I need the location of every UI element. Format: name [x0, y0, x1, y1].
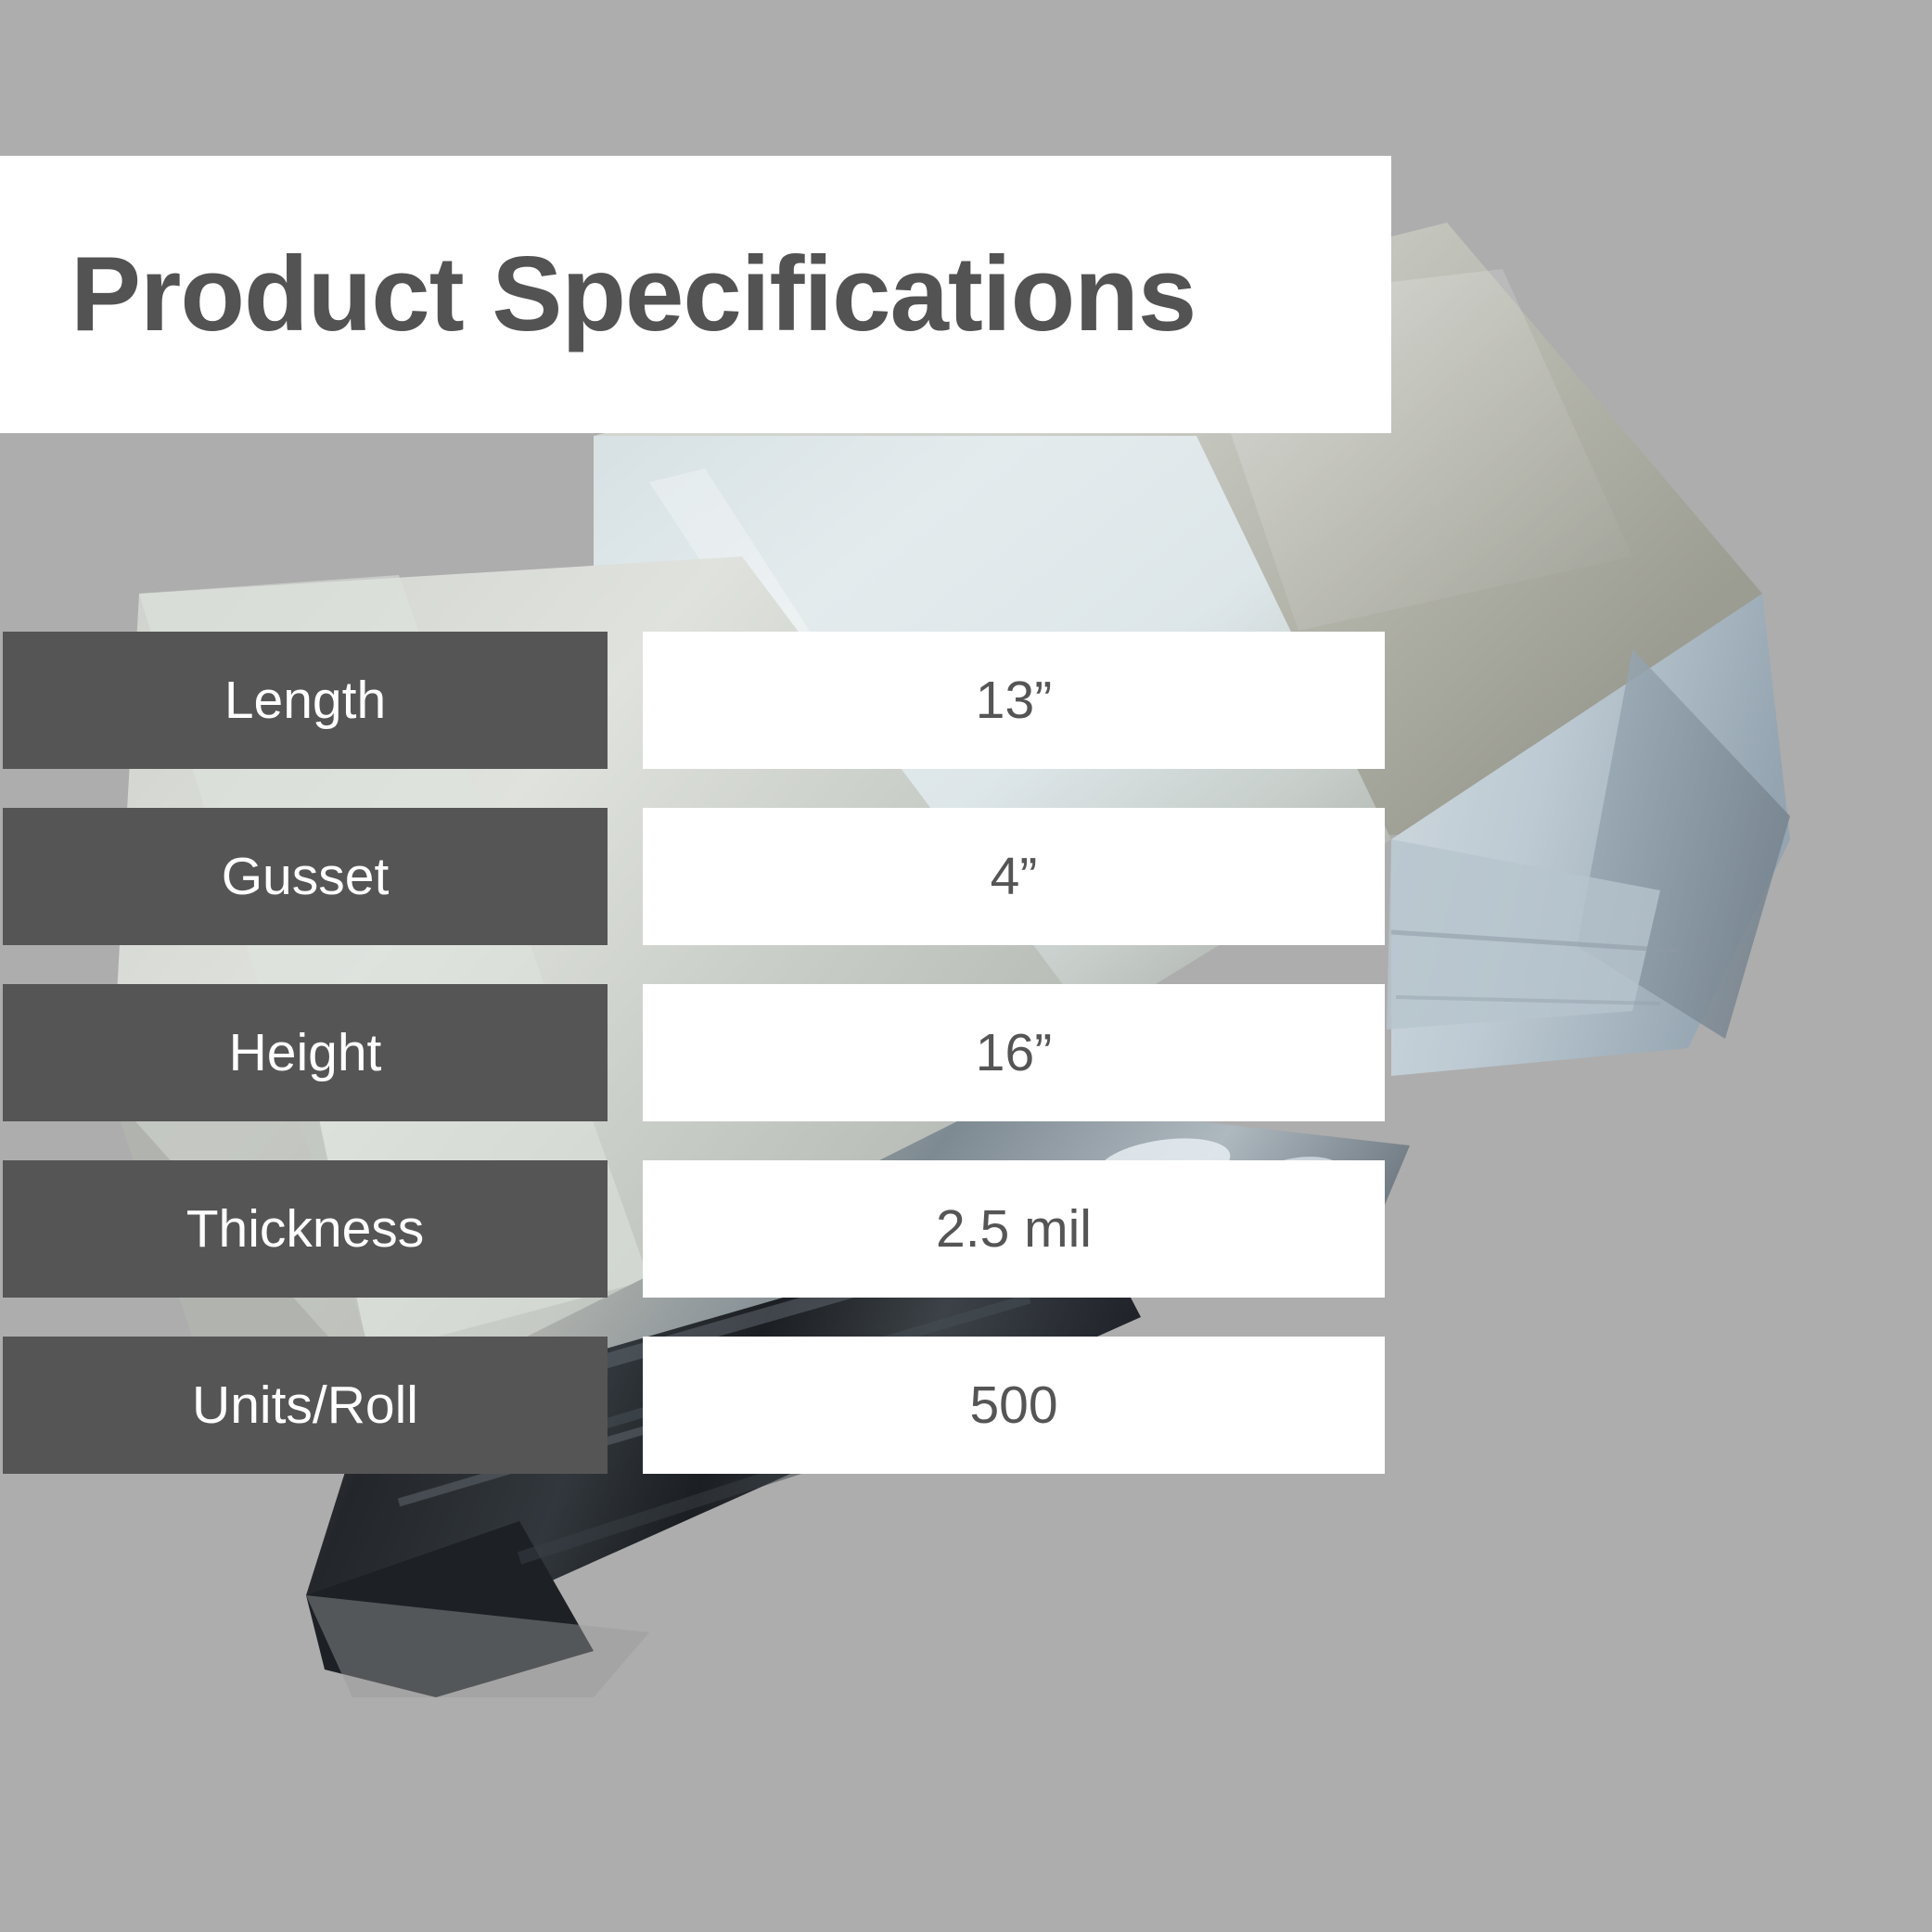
spec-value-units-per-roll: 500 [969, 1379, 1057, 1432]
table-row: Length 13” [0, 632, 1391, 769]
spec-label-box-gusset: Gusset [3, 808, 608, 945]
spec-value-thickness: 2.5 mil [936, 1203, 1092, 1256]
table-row: Height 16” [0, 984, 1391, 1121]
spec-value-gusset: 4” [991, 851, 1038, 903]
spec-value-box-height: 16” [643, 984, 1385, 1121]
spec-label-box-thickness: Thickness [3, 1160, 608, 1298]
spec-label-box-height: Height [3, 984, 608, 1121]
spec-label-box-units-per-roll: Units/Roll [3, 1337, 608, 1474]
spec-label-height: Height [229, 1027, 382, 1080]
spec-value-height: 16” [976, 1027, 1052, 1080]
table-row: Gusset 4” [0, 808, 1391, 945]
spec-value-length: 13” [976, 674, 1052, 727]
spec-table: Length 13” Gusset 4” Height 16” Thi [0, 632, 1391, 1513]
table-row: Thickness 2.5 mil [0, 1160, 1391, 1298]
table-row: Units/Roll 500 [0, 1337, 1391, 1474]
spec-label-box-length: Length [3, 632, 608, 769]
spec-value-box-length: 13” [643, 632, 1385, 769]
spec-value-box-units-per-roll: 500 [643, 1337, 1385, 1474]
spec-label-thickness: Thickness [186, 1203, 425, 1256]
spec-label-gusset: Gusset [222, 851, 390, 903]
spec-value-box-gusset: 4” [643, 808, 1385, 945]
page-title: Product Specifications [70, 242, 1196, 348]
spec-label-units-per-roll: Units/Roll [192, 1379, 418, 1432]
spec-label-length: Length [224, 674, 386, 727]
product-specifications-infographic: Product Specifications Length 13” Gusset… [0, 0, 1932, 1932]
title-banner: Product Specifications [0, 156, 1391, 433]
spec-value-box-thickness: 2.5 mil [643, 1160, 1385, 1298]
